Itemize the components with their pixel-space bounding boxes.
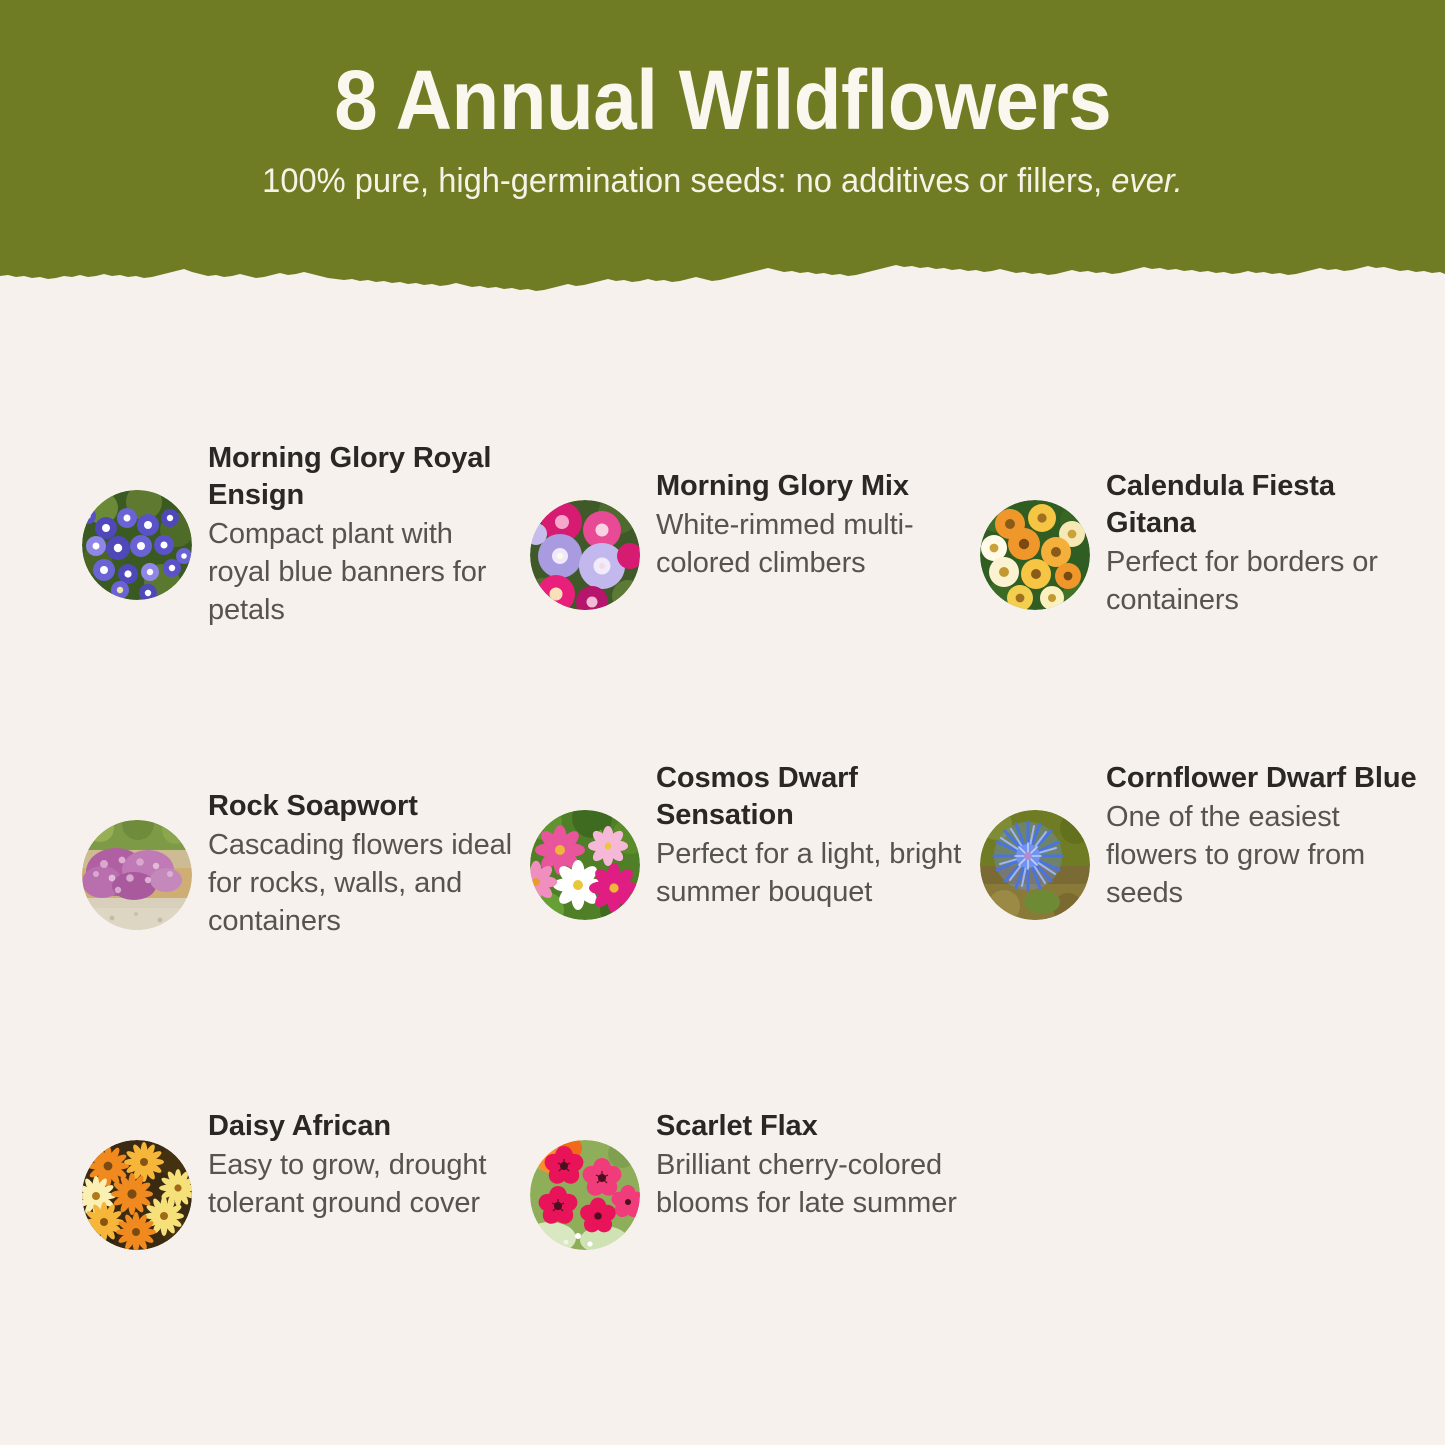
flower-card-morning-glory-royal-ensign: Morning Glory Royal Ensign Compact plant… [82, 438, 522, 629]
flower-text-2: Morning Glory Mix White-rimmed multi-col… [656, 466, 970, 582]
torn-paper-edge-decoration [0, 246, 1445, 300]
flower-thumbnail-6 [980, 810, 1090, 920]
subtitle-emphasis-text: ever. [1111, 162, 1182, 200]
flower-thumbnail-8 [530, 1140, 640, 1250]
flower-name-6: Cornflower Dwarf Blue [1106, 760, 1420, 797]
cornflower-dwarf-blue-photo [980, 810, 1090, 920]
flower-row-1: Morning Glory Royal Ensign Compact plant… [60, 438, 1385, 758]
flower-description-1: Compact plant with royal blue banners fo… [208, 515, 522, 629]
flower-thumbnail-5 [530, 810, 640, 920]
flower-thumbnail-1 [82, 490, 192, 600]
flower-card-cornflower-dwarf-blue: Cornflower Dwarf Blue One of the easiest… [980, 758, 1420, 920]
flower-name-2: Morning Glory Mix [656, 468, 970, 505]
flower-text-7: Daisy African Easy to grow, drought tole… [208, 1106, 522, 1222]
flower-name-3: Calendula Fiesta Gitana [1106, 468, 1420, 542]
scarlet-flax-photo [530, 1140, 640, 1250]
daisy-african-photo [82, 1140, 192, 1250]
flower-row-3: Daisy African Easy to grow, drought tole… [60, 1078, 1385, 1398]
header-content: 8 Annual Wildflowers 100% pure, high-ger… [0, 0, 1445, 278]
cosmos-dwarf-sensation-photo [530, 810, 640, 920]
flower-row-2: Rock Soapwort Cascading flowers ideal fo… [60, 758, 1385, 1078]
flower-name-8: Scarlet Flax [656, 1108, 970, 1145]
morning-glory-royal-ensign-photo [82, 490, 192, 600]
flower-name-1: Morning Glory Royal Ensign [208, 440, 522, 514]
flower-description-2: White-rimmed multi-colored climbers [656, 506, 970, 582]
flower-text-4: Rock Soapwort Cascading flowers ideal fo… [208, 786, 522, 940]
flower-thumbnail-4 [82, 820, 192, 930]
flower-description-4: Cascading flowers ideal for rocks, walls… [208, 826, 522, 940]
rock-soapwort-photo [82, 820, 192, 930]
calendula-fiesta-gitana-photo [980, 500, 1090, 610]
flower-description-5: Perfect for a light, bright summer bouqu… [656, 835, 970, 911]
flower-thumbnail-3 [980, 500, 1090, 610]
flower-name-4: Rock Soapwort [208, 788, 522, 825]
flower-text-8: Scarlet Flax Brilliant cherry-colored bl… [656, 1106, 970, 1222]
flower-description-6: One of the easiest flowers to grow from … [1106, 798, 1420, 912]
flower-name-7: Daisy African [208, 1108, 522, 1145]
subtitle-lead-text: 100% pure, high-germination seeds: no ad… [262, 162, 1111, 200]
flower-text-1: Morning Glory Royal Ensign Compact plant… [208, 438, 522, 629]
flower-card-cosmos-dwarf-sensation: Cosmos Dwarf Sensation Perfect for a lig… [530, 758, 970, 920]
header-banner: 8 Annual Wildflowers 100% pure, high-ger… [0, 0, 1445, 300]
flower-text-5: Cosmos Dwarf Sensation Perfect for a lig… [656, 758, 970, 911]
flower-card-morning-glory-mix: Morning Glory Mix White-rimmed multi-col… [530, 438, 970, 610]
flower-card-rock-soapwort: Rock Soapwort Cascading flowers ideal fo… [82, 758, 522, 940]
page-title: 8 Annual Wildflowers [334, 52, 1111, 148]
flower-text-3: Calendula Fiesta Gitana Perfect for bord… [1106, 466, 1420, 619]
flower-thumbnail-7 [82, 1140, 192, 1250]
flower-description-8: Brilliant cherry-colored blooms for late… [656, 1146, 970, 1222]
flower-thumbnail-2 [530, 500, 640, 610]
wildflower-seed-infographic: 8 Annual Wildflowers 100% pure, high-ger… [0, 0, 1445, 1445]
flower-description-7: Easy to grow, drought tolerant ground co… [208, 1146, 522, 1222]
flower-list-grid: Morning Glory Royal Ensign Compact plant… [0, 300, 1445, 1445]
flower-text-6: Cornflower Dwarf Blue One of the easiest… [1106, 758, 1420, 912]
morning-glory-mix-photo [530, 500, 640, 610]
flower-description-3: Perfect for borders or containers [1106, 543, 1420, 619]
flower-card-scarlet-flax: Scarlet Flax Brilliant cherry-colored bl… [530, 1078, 970, 1250]
flower-card-calendula-fiesta-gitana: Calendula Fiesta Gitana Perfect for bord… [980, 438, 1420, 619]
flower-name-5: Cosmos Dwarf Sensation [656, 760, 970, 834]
page-subtitle: 100% pure, high-germination seeds: no ad… [262, 158, 1182, 204]
flower-card-daisy-african: Daisy African Easy to grow, drought tole… [82, 1078, 522, 1250]
